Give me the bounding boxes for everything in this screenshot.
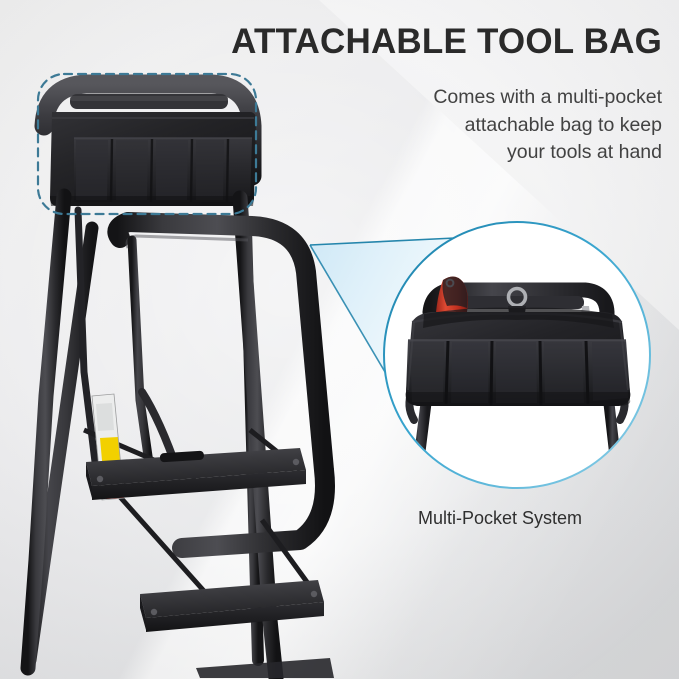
detail-caption: Multi-Pocket System — [418, 508, 582, 529]
subtitle-line-2: attachable bag to keep — [300, 112, 662, 140]
product-feature-graphic: ATTACHABLE TOOL BAG Comes with a multi-p… — [0, 0, 679, 679]
tool-bag-highlight-region — [38, 74, 256, 214]
subtitle-line-1: Comes with a multi-pocket — [300, 84, 662, 112]
subtitle-block: Comes with a multi-pocket attachable bag… — [300, 84, 662, 167]
page-title: ATTACHABLE TOOL BAG — [150, 24, 662, 61]
subtitle-line-3: your tools at hand — [300, 139, 662, 167]
